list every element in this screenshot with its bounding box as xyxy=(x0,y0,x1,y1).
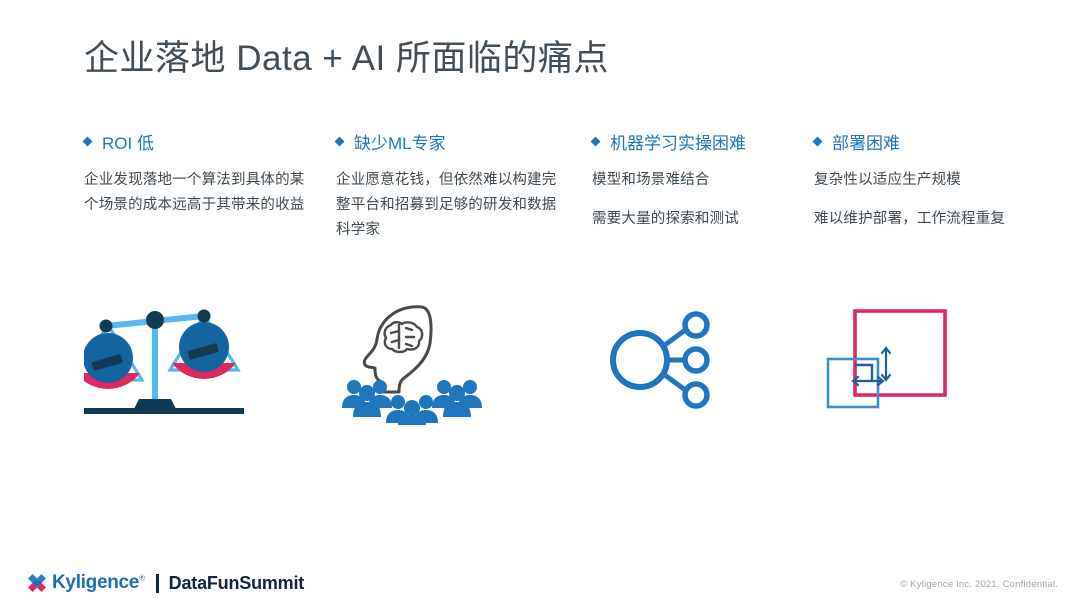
illustration-slot-deployment xyxy=(814,295,1044,425)
scale-up-squares-icon xyxy=(814,295,964,425)
footer-branding: Kyligence® DataFunSummit xyxy=(26,572,304,594)
column-heading-ml-experts: 缺少ML专家 xyxy=(336,132,568,156)
diamond-bullet-icon xyxy=(813,137,823,147)
brain-head-people-icon xyxy=(336,295,496,425)
page-title: 企业落地 Data + AI 所面临的痛点 xyxy=(84,36,609,82)
kyligence-logo-icon xyxy=(26,572,48,594)
illustration-slot-roi xyxy=(84,295,336,425)
body-paragraph: 需要大量的探索和测试 xyxy=(592,207,800,232)
kyligence-trademark: ® xyxy=(139,574,145,583)
pain-point-column-deployment: 部署困难 复杂性以适应生产规模 难以维护部署，工作流程重复 xyxy=(814,132,1024,232)
column-body-ml-practice: 模型和场景难结合 需要大量的探索和测试 xyxy=(592,168,800,232)
body-paragraph: 复杂性以适应生产规模 xyxy=(814,168,1024,193)
column-heading-label: ROI 低 xyxy=(102,132,154,156)
kyligence-wordmark-text: Kyligence xyxy=(52,572,139,593)
pain-point-column-roi: ROI 低 企业发现落地一个算法到具体的某个场景的成本远高于其带来的收益 xyxy=(84,132,336,218)
illustration-row xyxy=(0,295,1080,425)
column-body-ml-experts: 企业愿意花钱，但依然难以构建完整平台和招募到足够的研发和数据科学家 xyxy=(336,168,568,243)
body-paragraph: 企业愿意花钱，但依然难以构建完整平台和招募到足够的研发和数据科学家 xyxy=(336,168,562,243)
pain-point-column-ml-experts: 缺少ML专家 企业愿意花钱，但依然难以构建完整平台和招募到足够的研发和数据科学家 xyxy=(336,132,592,243)
column-heading-roi: ROI 低 xyxy=(84,132,312,156)
column-heading-label: 机器学习实操困难 xyxy=(610,132,746,156)
diamond-bullet-icon xyxy=(591,137,601,147)
column-heading-label: 部署困难 xyxy=(832,132,900,156)
body-paragraph: 难以维护部署，工作流程重复 xyxy=(814,207,1024,232)
illustration-slot-ml-practice xyxy=(592,295,814,425)
column-body-roi: 企业发现落地一个算法到具体的某个场景的成本远高于其带来的收益 xyxy=(84,168,312,218)
pain-points-columns: ROI 低 企业发现落地一个算法到具体的某个场景的成本远高于其带来的收益 缺少M… xyxy=(84,132,1024,243)
diamond-bullet-icon xyxy=(83,137,93,147)
footer-divider xyxy=(156,574,159,593)
pain-point-column-ml-practice: 机器学习实操困难 模型和场景难结合 需要大量的探索和测试 xyxy=(592,132,814,232)
column-heading-ml-practice: 机器学习实操困难 xyxy=(592,132,800,156)
balance-scale-icon xyxy=(84,295,244,425)
diamond-bullet-icon xyxy=(335,137,345,147)
slide-canvas: 企业落地 Data + AI 所面临的痛点 ROI 低 企业发现落地一个算法到具… xyxy=(0,0,1080,608)
kyligence-wordmark: Kyligence® xyxy=(52,572,145,594)
copyright-notice: © Kyligence Inc. 2021, Confidential. xyxy=(900,579,1058,590)
illustration-slot-ml-experts xyxy=(336,295,592,425)
column-body-deployment: 复杂性以适应生产规模 难以维护部署，工作流程重复 xyxy=(814,168,1024,232)
column-heading-label: 缺少ML专家 xyxy=(354,132,446,156)
slide-footer: Kyligence® DataFunSummit © Kyligence Inc… xyxy=(0,552,1080,608)
network-nodes-icon xyxy=(592,295,732,425)
body-paragraph: 企业发现落地一个算法到具体的某个场景的成本远高于其带来的收益 xyxy=(84,168,306,218)
datafunsummit-wordmark: DataFunSummit xyxy=(169,573,304,594)
body-paragraph: 模型和场景难结合 xyxy=(592,168,800,193)
column-heading-deployment: 部署困难 xyxy=(814,132,1024,156)
